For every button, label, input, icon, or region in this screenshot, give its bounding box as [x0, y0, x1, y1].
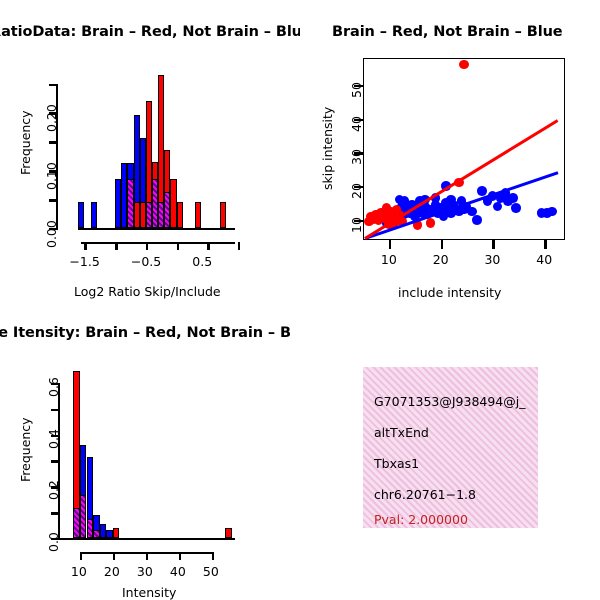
- x-tick-label: 0.5: [192, 254, 212, 269]
- scatter-point: [426, 218, 436, 228]
- histogram-bar: [220, 202, 226, 228]
- x-tick: [115, 242, 117, 250]
- y-tick-label: 30: [349, 149, 364, 165]
- y-tick-label: 0.20: [44, 105, 59, 133]
- y-tick-label: 50: [349, 82, 364, 98]
- x-tick-label: −0.5: [131, 254, 161, 269]
- scatter-point: [446, 195, 456, 205]
- y-tick-label: 40: [349, 116, 364, 132]
- y-tick: [49, 84, 57, 86]
- histogram-bar: [80, 495, 87, 538]
- x-tick: [238, 242, 240, 250]
- x-tick: [389, 240, 391, 249]
- x-tick-label: −1.5: [69, 254, 99, 269]
- x-tick-label: 40: [170, 564, 186, 579]
- x-tick: [441, 240, 443, 249]
- histogram-bar: [78, 202, 84, 228]
- scatter-point: [508, 193, 518, 203]
- x-tick: [492, 240, 494, 249]
- x-tick-label: 30: [137, 564, 153, 579]
- y-tick-label: 0.4: [46, 429, 61, 449]
- histogram-bar: [73, 508, 80, 538]
- histogram-bar: [195, 202, 201, 228]
- annotation-gene-symbol: Tbxas1: [374, 456, 419, 471]
- histogram-bar: [87, 519, 94, 538]
- x-tick-label: 50: [203, 564, 219, 579]
- y-tick-label: 0.0: [46, 532, 61, 552]
- panel-annotation: G7071353@J938494@j_ altTxEnd Tbxas1 chr6…: [300, 310, 600, 600]
- y-tick-label: 10: [349, 217, 364, 233]
- panel-intensity-histogram: ne Itensity: Brain – Red, Not Brain – B …: [0, 310, 300, 600]
- x-tick-label: 40: [536, 252, 552, 267]
- x-tick: [177, 242, 179, 250]
- histogram-bar: [164, 192, 170, 228]
- x-tick: [146, 552, 148, 560]
- x-tick: [179, 552, 181, 560]
- scatter-point: [472, 215, 482, 225]
- y-tick: [49, 199, 57, 201]
- x-tick: [207, 242, 209, 250]
- scatter-point: [459, 60, 469, 70]
- y-tick-label: 20: [349, 183, 364, 199]
- histogram-bar: [177, 202, 183, 228]
- annotation-box: G7071353@J938494@j_ altTxEnd Tbxas1 chr6…: [363, 367, 538, 528]
- y-tick-label: 0.00: [44, 220, 59, 248]
- x-tick: [80, 552, 82, 560]
- regression-line: [364, 119, 558, 240]
- y-tick: [51, 460, 59, 462]
- y-tick-label: 0.2: [46, 480, 61, 500]
- x-tick-label: 30: [484, 252, 500, 267]
- histogram-bar: [93, 530, 100, 538]
- x-tick-label: 20: [433, 252, 449, 267]
- intensity-histogram-plot-area: 0.00.20.40.61020304050: [0, 310, 300, 600]
- ratio-histogram-plot-area: 0.000.100.20−1.5−0.50.5: [0, 0, 300, 310]
- scatter-point: [493, 202, 503, 212]
- intensity-histogram-x-axis: [58, 538, 235, 540]
- scatter-point: [547, 207, 557, 217]
- scatter-point: [511, 203, 521, 213]
- x-tick: [84, 242, 86, 250]
- histogram-bar: [100, 524, 107, 538]
- y-tick: [51, 512, 59, 514]
- panel-intensity-scatter: Brain – Red, Not Brain – Blue skip inten…: [300, 0, 600, 310]
- ratio-histogram-x-axis: [78, 228, 235, 230]
- x-tick-label: 10: [71, 564, 87, 579]
- y-tick-label: 0.10: [44, 162, 59, 190]
- histogram-bar: [127, 179, 133, 228]
- scatter-point: [364, 217, 374, 227]
- y-tick-label: 0.6: [46, 377, 61, 397]
- ratio-histogram-x-tick-bar: [81, 242, 235, 244]
- panel-ratio-histogram: RatioData: Brain – Red, Not Brain – Blu …: [0, 0, 300, 310]
- annotation-event-id: G7071353@J938494@j_: [374, 394, 525, 409]
- histogram-bar: [106, 530, 113, 538]
- x-tick-label: 20: [104, 564, 120, 579]
- x-tick: [212, 552, 214, 560]
- histogram-bar: [91, 202, 97, 228]
- annotation-event-type: altTxEnd: [374, 425, 429, 440]
- scatter-plot-area: 102030405010203040: [300, 0, 600, 310]
- annotation-pvalue: Pval: 2.000000: [374, 512, 468, 527]
- x-tick: [113, 552, 115, 560]
- scatter-point: [477, 186, 487, 196]
- y-tick: [51, 409, 59, 411]
- x-tick-label: 10: [381, 252, 397, 267]
- histogram-bar: [225, 528, 232, 538]
- x-tick: [146, 242, 148, 250]
- x-tick: [544, 240, 546, 249]
- scatter-clip: [363, 58, 565, 240]
- histogram-bar: [113, 528, 120, 538]
- y-tick: [49, 141, 57, 143]
- annotation-locus: chr6.20761−1.8: [374, 487, 476, 502]
